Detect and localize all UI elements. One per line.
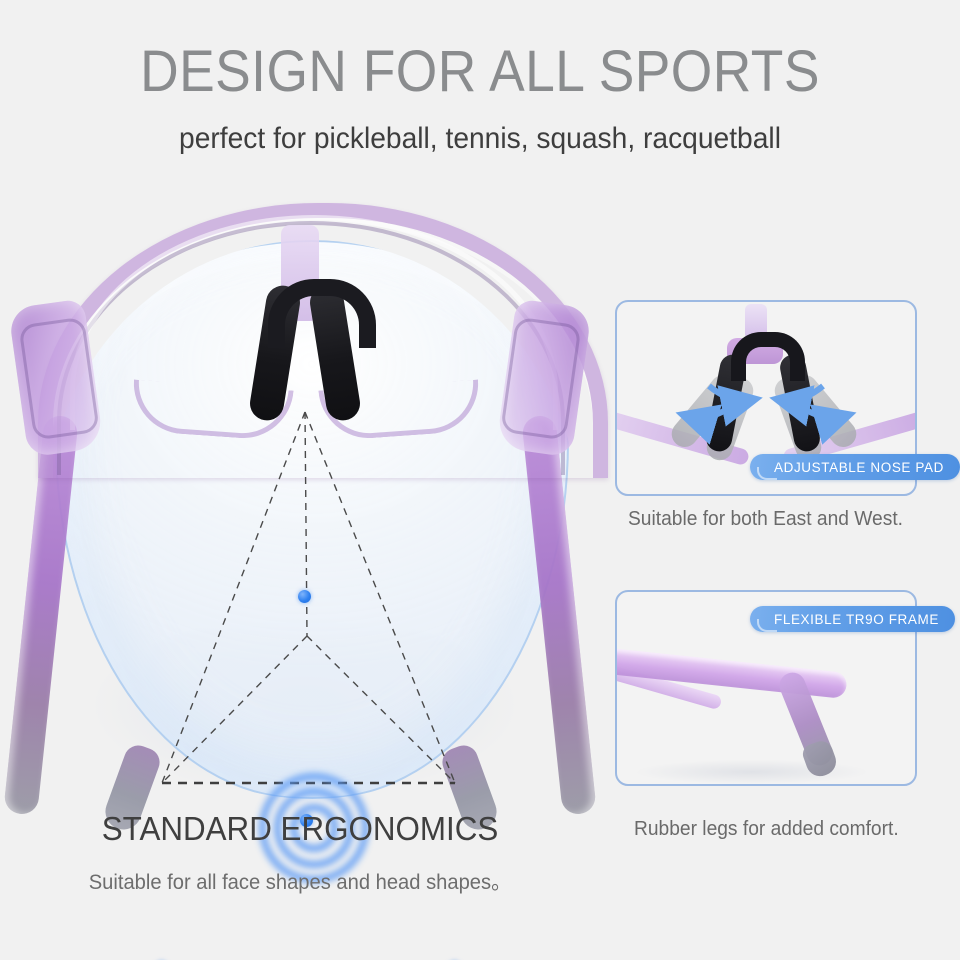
- product-photo-sunglasses: [0, 185, 600, 825]
- infographic-page: DESIGN FOR ALL SPORTS perfect for pickle…: [0, 0, 960, 960]
- apex-point-dot: [298, 590, 311, 603]
- feature-panel-nose-pad: ADJUSTABLE NOSE PAD: [615, 300, 917, 496]
- ergonomics-diagram: [0, 185, 600, 825]
- page-subhead: perfect for pickleball, tennis, squash, …: [29, 122, 931, 156]
- ergonomics-title: STANDARD ERGONOMICS: [15, 810, 585, 848]
- ergonomics-caption: Suitable for all face shapes and head sh…: [12, 866, 588, 896]
- caption-nose-pad: Suitable for both East and West.: [628, 508, 960, 531]
- page-headline: DESIGN FOR ALL SPORTS: [38, 38, 921, 105]
- caption-tr90-frame: Rubber legs for added comfort.: [634, 818, 960, 841]
- badge-flexible-tr90-frame: FLEXIBLE TR9O FRAME: [750, 606, 955, 632]
- feature-panel-tr90-frame: FLEXIBLE TR9O FRAME: [615, 590, 917, 786]
- badge-adjustable-nose-pad: ADJUSTABLE NOSE PAD: [750, 454, 960, 480]
